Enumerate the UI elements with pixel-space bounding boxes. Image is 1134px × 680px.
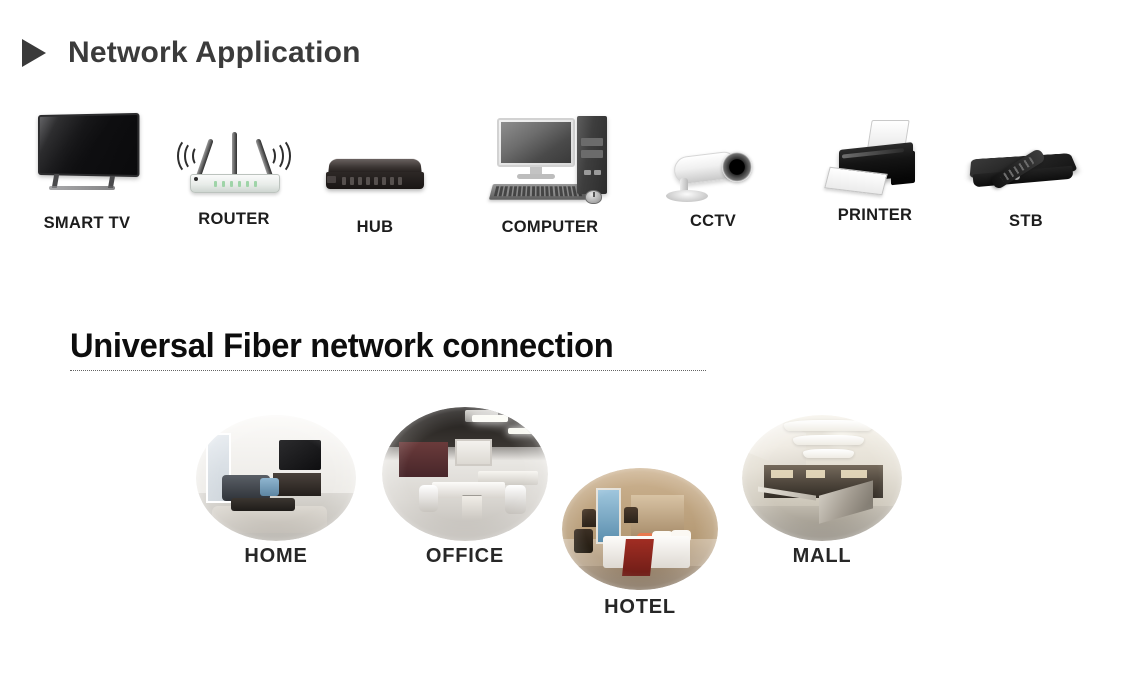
device-item-computer[interactable]: COMPUTER xyxy=(487,116,613,237)
venue-item-home[interactable]: HOME xyxy=(196,415,356,541)
fiber-heading: Universal Fiber network connection xyxy=(70,328,613,365)
hotel-bedroom-photo xyxy=(562,468,718,590)
page-title: Network Application xyxy=(68,38,361,68)
triangle-right-icon xyxy=(22,39,46,67)
device-label-stb: STB xyxy=(967,212,1085,231)
device-label-hub: HUB xyxy=(321,218,429,237)
set-top-box-icon xyxy=(967,138,1085,200)
device-item-printer[interactable]: PRINTER xyxy=(824,120,926,225)
television-icon xyxy=(31,112,143,190)
device-label-cctv: CCTV xyxy=(663,212,763,231)
wifi-router-icon xyxy=(176,126,292,200)
open-office-photo xyxy=(382,407,548,541)
device-row: SMART TV ROUTER xyxy=(0,112,1134,242)
venue-row: HOME OFFICE xyxy=(0,395,1134,645)
printer-icon xyxy=(825,120,925,200)
desktop-computer-icon xyxy=(489,116,611,208)
shopping-mall-atrium-photo xyxy=(742,415,902,541)
venue-item-office[interactable]: OFFICE xyxy=(382,407,548,541)
device-item-cctv[interactable]: CCTV xyxy=(663,140,763,231)
venue-label-home: HOME xyxy=(196,545,356,568)
security-camera-icon xyxy=(664,140,762,208)
device-item-smart-tv[interactable]: SMART TV xyxy=(22,112,152,233)
device-item-stb[interactable]: STB xyxy=(967,138,1085,231)
venue-item-mall[interactable]: MALL xyxy=(742,415,902,541)
living-room-photo xyxy=(196,415,356,541)
venue-item-hotel[interactable]: HOTEL xyxy=(562,468,718,590)
device-item-hub[interactable]: HUB xyxy=(321,152,429,237)
slide-canvas: Network Application SMART TV xyxy=(0,0,1134,680)
device-label-computer: COMPUTER xyxy=(487,218,613,237)
venue-label-office: OFFICE xyxy=(382,545,548,568)
device-item-router[interactable]: ROUTER xyxy=(175,126,293,229)
venue-label-hotel: HOTEL xyxy=(562,596,718,619)
fiber-heading-underline xyxy=(70,370,706,371)
network-switch-icon xyxy=(321,152,429,200)
venue-label-mall: MALL xyxy=(742,545,902,568)
device-label-smart-tv: SMART TV xyxy=(22,214,152,233)
device-label-router: ROUTER xyxy=(175,210,293,229)
device-label-printer: PRINTER xyxy=(824,206,926,225)
section-header: Network Application xyxy=(22,38,361,68)
